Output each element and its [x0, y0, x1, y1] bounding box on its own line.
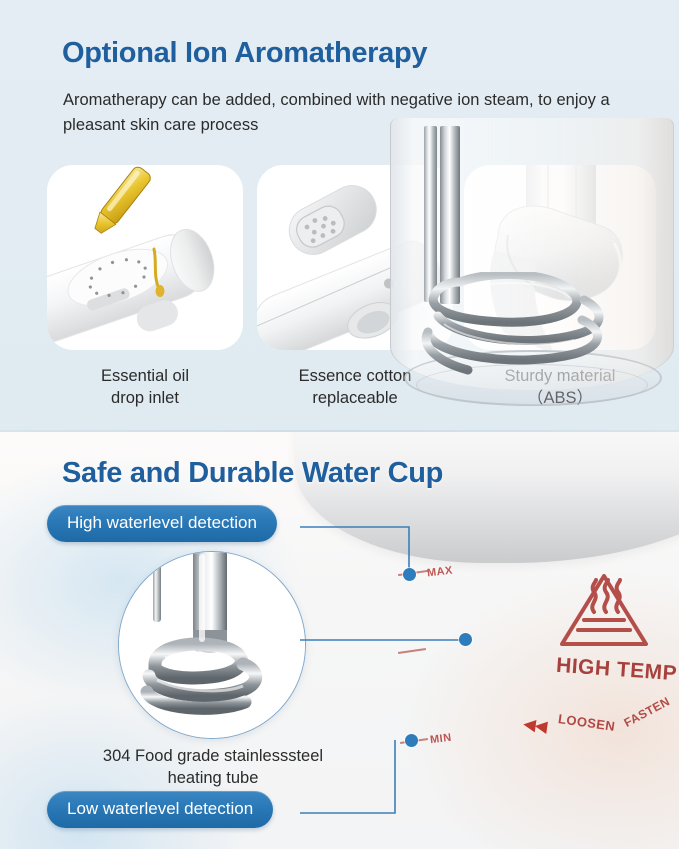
section-divider	[0, 430, 679, 432]
callout-pill-high-waterlevel[interactable]: High waterlevel detection	[47, 505, 277, 542]
product-infographic: Optional Ion Aromatherapy Aromatherapy c…	[0, 0, 679, 849]
callout-pill-low-waterlevel[interactable]: Low waterlevel detection	[47, 791, 273, 828]
callout-leader-lines	[0, 0, 679, 849]
callout-dot-high-level	[403, 568, 416, 581]
section-title-water-cup: Safe and Durable Water Cup	[62, 457, 443, 490]
callout-dot-low-level	[405, 734, 418, 747]
callout-dot-heating-tube	[459, 633, 472, 646]
